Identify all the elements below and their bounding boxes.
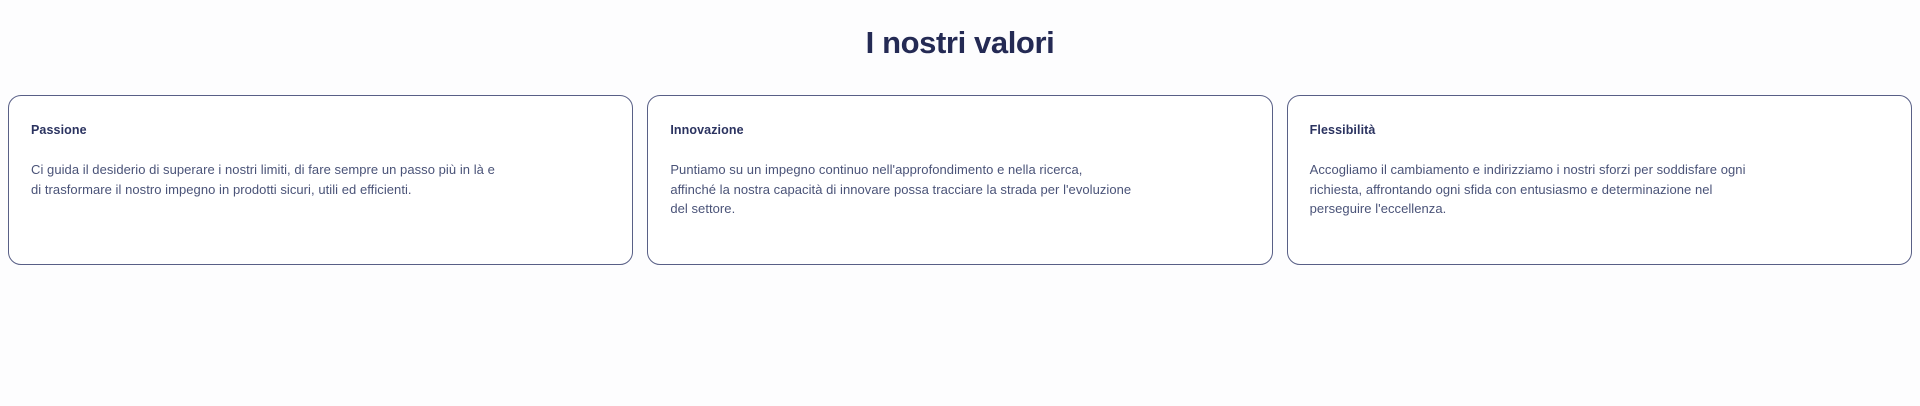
page-title: I nostri valori — [0, 22, 1920, 64]
value-card-body-line: di trasformare il nostro impegno in prod… — [31, 180, 501, 200]
value-card-body-line: del settore. — [670, 199, 1140, 219]
value-card-body: Puntiamo su un impegno continuo nell'app… — [670, 160, 1140, 219]
values-card-list: Passione Ci guida il desiderio di supera… — [8, 95, 1912, 265]
value-card-body-line: perseguire l'eccellenza. — [1310, 199, 1780, 219]
value-card-body-line: Accogliamo il cambiamento e indirizziamo… — [1310, 160, 1780, 180]
value-card-body-line: richiesta, affrontando ogni sfida con en… — [1310, 180, 1780, 200]
value-card-innovazione: Innovazione Puntiamo su un impegno conti… — [647, 95, 1272, 265]
value-card-title: Innovazione — [670, 122, 1249, 138]
value-card-title: Flessibilità — [1310, 122, 1889, 138]
value-card-body-line: Puntiamo su un impegno continuo nell'app… — [670, 160, 1140, 180]
value-card-body: Ci guida il desiderio di superare i nost… — [31, 160, 501, 199]
value-card-passione: Passione Ci guida il desiderio di supera… — [8, 95, 633, 265]
value-card-body-line: Ci guida il desiderio di superare i nost… — [31, 160, 501, 180]
value-card-title: Passione — [31, 122, 610, 138]
value-card-flessibilita: Flessibilità Accogliamo il cambiamento e… — [1287, 95, 1912, 265]
value-card-body-line: affinché la nostra capacità di innovare … — [670, 180, 1140, 200]
values-section: I nostri valori Passione Ci guida il des… — [0, 0, 1920, 406]
value-card-body: Accogliamo il cambiamento e indirizziamo… — [1310, 160, 1780, 219]
